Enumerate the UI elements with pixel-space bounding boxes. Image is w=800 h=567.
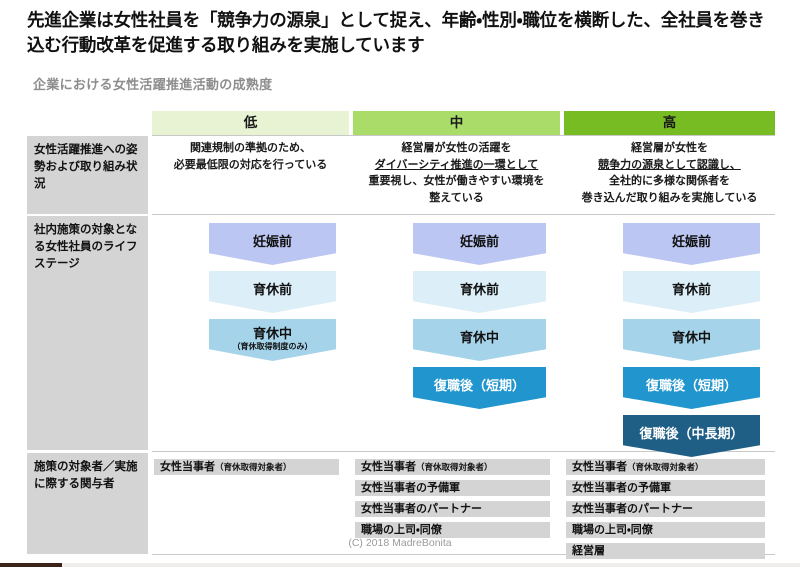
column-header-mid: 中 [353, 111, 560, 135]
target-pill-label: 女性当事者のパートナー [572, 503, 693, 515]
lifestage-label: 妊娠前 [253, 231, 292, 250]
stance-line: 経営層が女性の活躍を [402, 140, 512, 157]
target-pill-label: 女性当事者の予備軍 [361, 482, 460, 494]
lifestage-chevron: 育休中 [623, 319, 760, 361]
target-pill-label: 女性当事者 [361, 461, 416, 473]
stance-line: 巻き込んだ取り組みを実施している [582, 190, 758, 207]
divider-under-stance [152, 214, 775, 215]
lifestage-chevron: 育休前 [623, 271, 760, 313]
target-pill: 女性当事者の予備軍 [566, 480, 765, 496]
target-pill-label: 職場の上司・同僚 [572, 524, 653, 536]
stance-cell-high: 経営層が女性を競争力の源泉として認識し、全社的に多様な関係者を巻き込んだ取り組み… [564, 137, 775, 211]
lifestage-label: 復職後（短期） [434, 375, 525, 394]
lifestage-chevron: 育休前 [413, 271, 546, 313]
lifestage-label: 復職後（中長期） [639, 423, 743, 442]
target-pill-label: 女性当事者のパートナー [361, 503, 482, 515]
page-title: 先進企業は女性社員を「競争力の源泉」として捉え、年齢・性別・職位を横断した、全社… [27, 8, 775, 58]
stance-line: 競争力の源泉として認識し、 [598, 157, 741, 174]
lifestage-label: 育休前 [253, 279, 292, 298]
divider-under-header [152, 135, 775, 136]
lifestage-chevron: 復職後（短期） [413, 367, 546, 409]
target-pill-label: 職場の上司・同僚 [361, 524, 442, 536]
target-pill-note: （育休取得対象者） [416, 462, 493, 472]
lifestage-label: 妊娠前 [460, 231, 499, 250]
target-pill: 女性当事者のパートナー [566, 501, 765, 517]
stance-line: ダイバーシティ推進の一環として [375, 157, 539, 174]
stance-line: 全社的に多様な関係者を [609, 173, 730, 190]
target-pill: 職場の上司・同僚 [355, 522, 550, 538]
lifestage-label: 育休中 [253, 323, 292, 342]
row-label-stance: 女性活躍推進への姿勢および取り組み状況 [27, 136, 148, 214]
maturity-matrix: 低 中 高 女性活躍推進への姿勢および取り組み状況 社内施策の対象となる女性社員… [27, 111, 775, 554]
target-pill-note: （育休取得対象者） [215, 462, 292, 472]
lifestage-label: 復職後（短期） [646, 375, 737, 394]
target-pill-note: （育休取得対象者） [627, 462, 704, 472]
target-pill: 女性当事者のパートナー [355, 501, 550, 517]
target-pill-label: 女性当事者 [572, 461, 627, 473]
stance-line: 整えている [429, 190, 483, 207]
lifestage-label: 育休前 [460, 279, 499, 298]
stance-cell-mid: 経営層が女性の活躍をダイバーシティ推進の一環として重要視し、女性が働きやすい環境… [353, 137, 560, 211]
target-pill: 女性当事者（育休取得対象者） [355, 459, 550, 475]
column-header-high: 高 [564, 111, 775, 135]
column-header-low: 低 [152, 111, 349, 135]
lifestage-label: 妊娠前 [672, 231, 711, 250]
stance-line: 重要視し、女性が働きやすい環境を [369, 173, 545, 190]
window-bottom-edge-dark [0, 563, 62, 567]
lifestage-label: 育休中 [460, 327, 499, 346]
target-pill: 女性当事者（育休取得対象者） [566, 459, 765, 475]
stance-line: 関連規制の準拠のため、 [190, 140, 311, 157]
target-pill-label: 女性当事者の予備軍 [572, 482, 671, 494]
row-label-lifestage: 社内施策の対象となる女性社員のライフステージ [27, 216, 148, 450]
lifestage-chevron: 復職後（短期） [623, 367, 760, 409]
stance-cell-low: 関連規制の準拠のため、必要最低限の対応を行っている [152, 137, 349, 211]
lifestage-chevron: 育休中（育休取得制度のみ） [209, 319, 336, 361]
lifestage-chevron: 育休中 [413, 319, 546, 361]
slide-subtitle: 企業における女性活躍推進活動の成熟度 [33, 74, 272, 93]
copyright-notice: (C) 2018 MadreBonita [0, 537, 800, 549]
target-pill: 職場の上司・同僚 [566, 522, 765, 538]
lifestage-chevron: 妊娠前 [413, 223, 546, 265]
target-pill: 女性当事者（育休取得対象者） [154, 459, 339, 475]
window-bottom-edge [0, 563, 800, 567]
lifestage-chevron: 妊娠前 [209, 223, 336, 265]
lifestage-sublabel: （育休取得制度のみ） [233, 343, 313, 351]
target-pill: 女性当事者の予備軍 [355, 480, 550, 496]
lifestage-chevron: 妊娠前 [623, 223, 760, 265]
lifestage-chevron: 育休前 [209, 271, 336, 313]
lifestage-label: 育休前 [672, 279, 711, 298]
stance-line: 経営層が女性を [631, 140, 708, 157]
lifestage-label: 育休中 [672, 327, 711, 346]
stance-line: 必要最低限の対応を行っている [174, 157, 327, 174]
target-pill-label: 女性当事者 [160, 461, 215, 473]
